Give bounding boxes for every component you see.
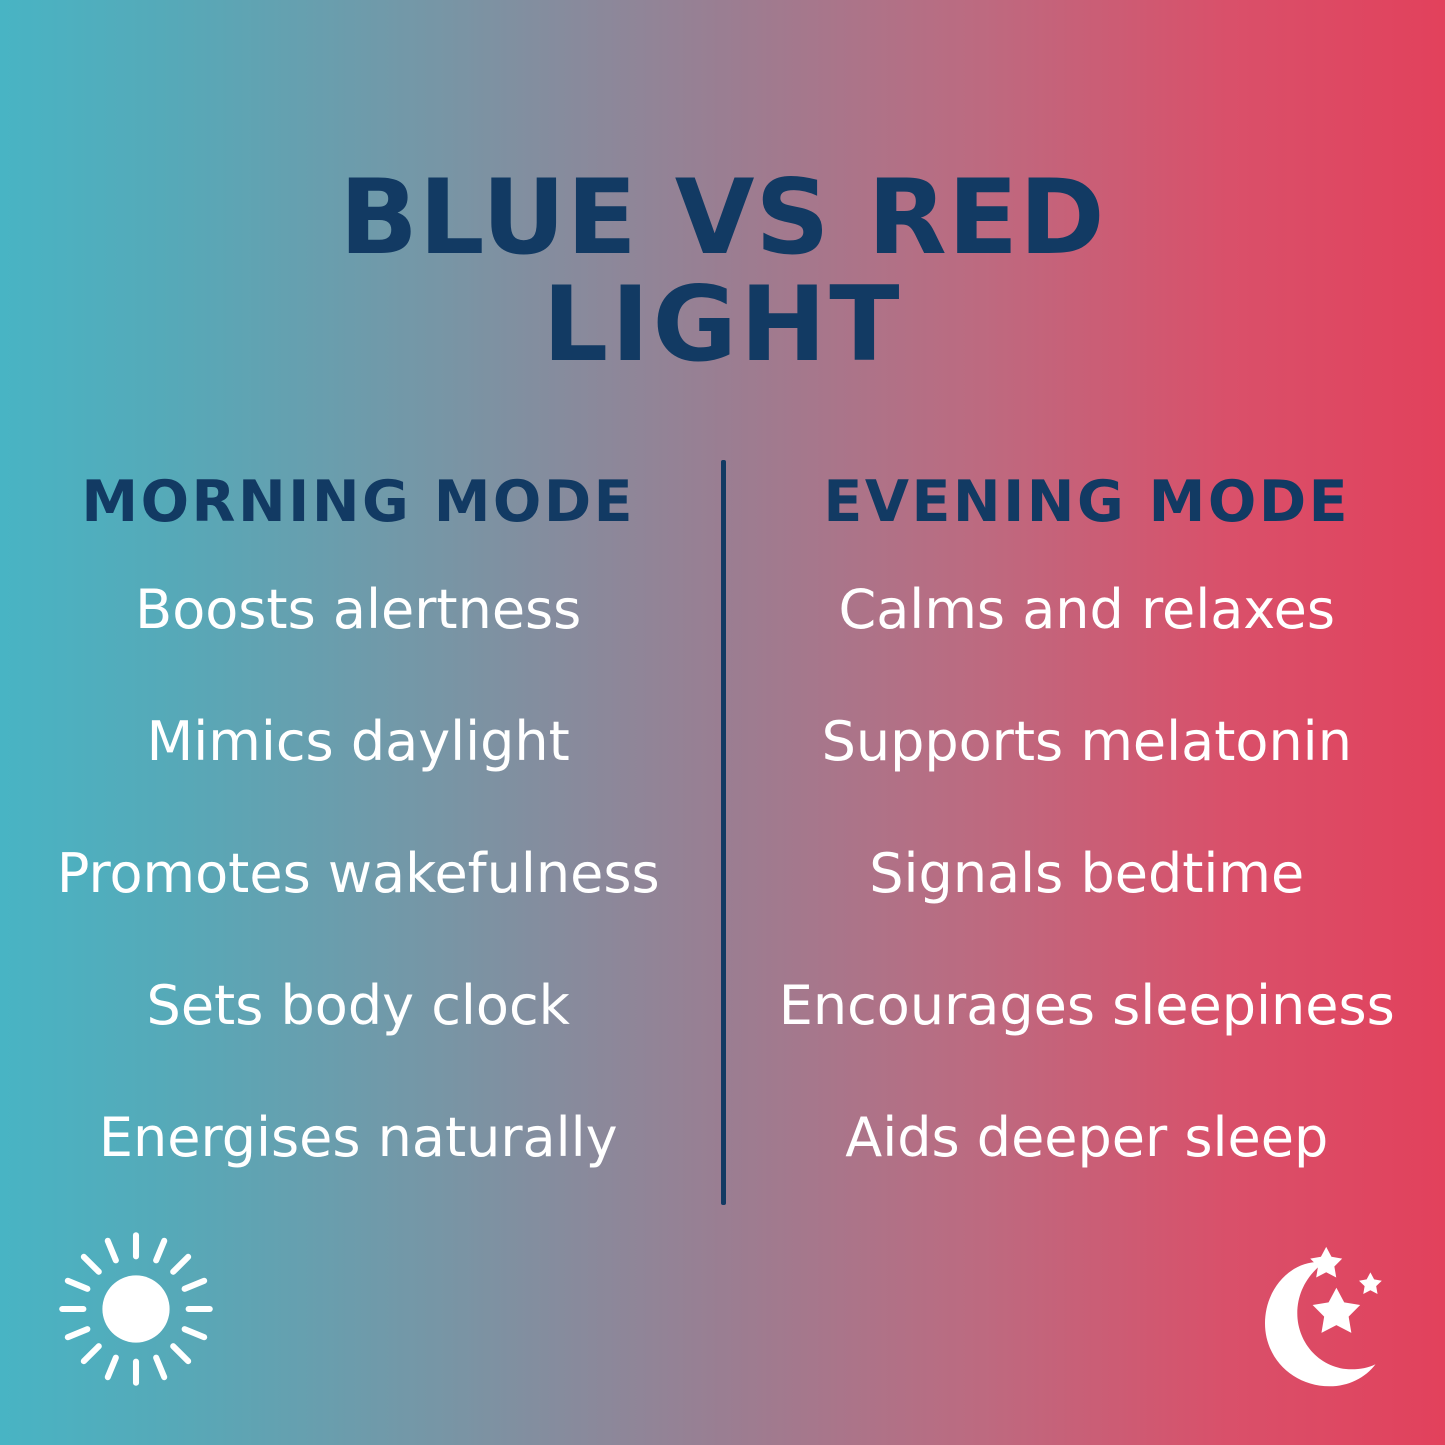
list-item: Energises naturally bbox=[99, 1111, 618, 1165]
list-item: Sets body clock bbox=[147, 979, 570, 1033]
sun-icon bbox=[56, 1229, 216, 1389]
column-divider bbox=[721, 460, 726, 1205]
moon-stars-icon bbox=[1231, 1235, 1401, 1405]
morning-mode-list: Boosts alertness Mimics daylight Promote… bbox=[0, 583, 717, 1165]
page-title: BLUE VS RED LIGHT bbox=[0, 165, 1445, 379]
infographic-poster: BLUE VS RED LIGHT MORNING MODE Boosts al… bbox=[0, 0, 1445, 1445]
list-item: Encourages sleepiness bbox=[779, 979, 1395, 1033]
column-evening-mode: EVENING MODE Calms and relaxes Supports … bbox=[723, 462, 1445, 1207]
list-item: Aids deeper sleep bbox=[845, 1111, 1328, 1165]
page-title-line-1: BLUE VS RED bbox=[0, 165, 1445, 272]
column-header-evening: EVENING MODE bbox=[823, 462, 1350, 531]
list-item: Boosts alertness bbox=[135, 583, 581, 637]
list-item: Promotes wakefulness bbox=[57, 847, 660, 901]
list-item: Calms and relaxes bbox=[839, 583, 1335, 637]
list-item: Mimics daylight bbox=[147, 715, 570, 769]
column-header-morning: MORNING MODE bbox=[81, 462, 635, 531]
list-item: Supports melatonin bbox=[822, 715, 1352, 769]
column-morning-mode: MORNING MODE Boosts alertness Mimics day… bbox=[0, 462, 723, 1207]
evening-mode-list: Calms and relaxes Supports melatonin Sig… bbox=[729, 583, 1445, 1165]
list-item: Signals bedtime bbox=[869, 847, 1304, 901]
page-title-line-2: LIGHT bbox=[0, 272, 1445, 379]
